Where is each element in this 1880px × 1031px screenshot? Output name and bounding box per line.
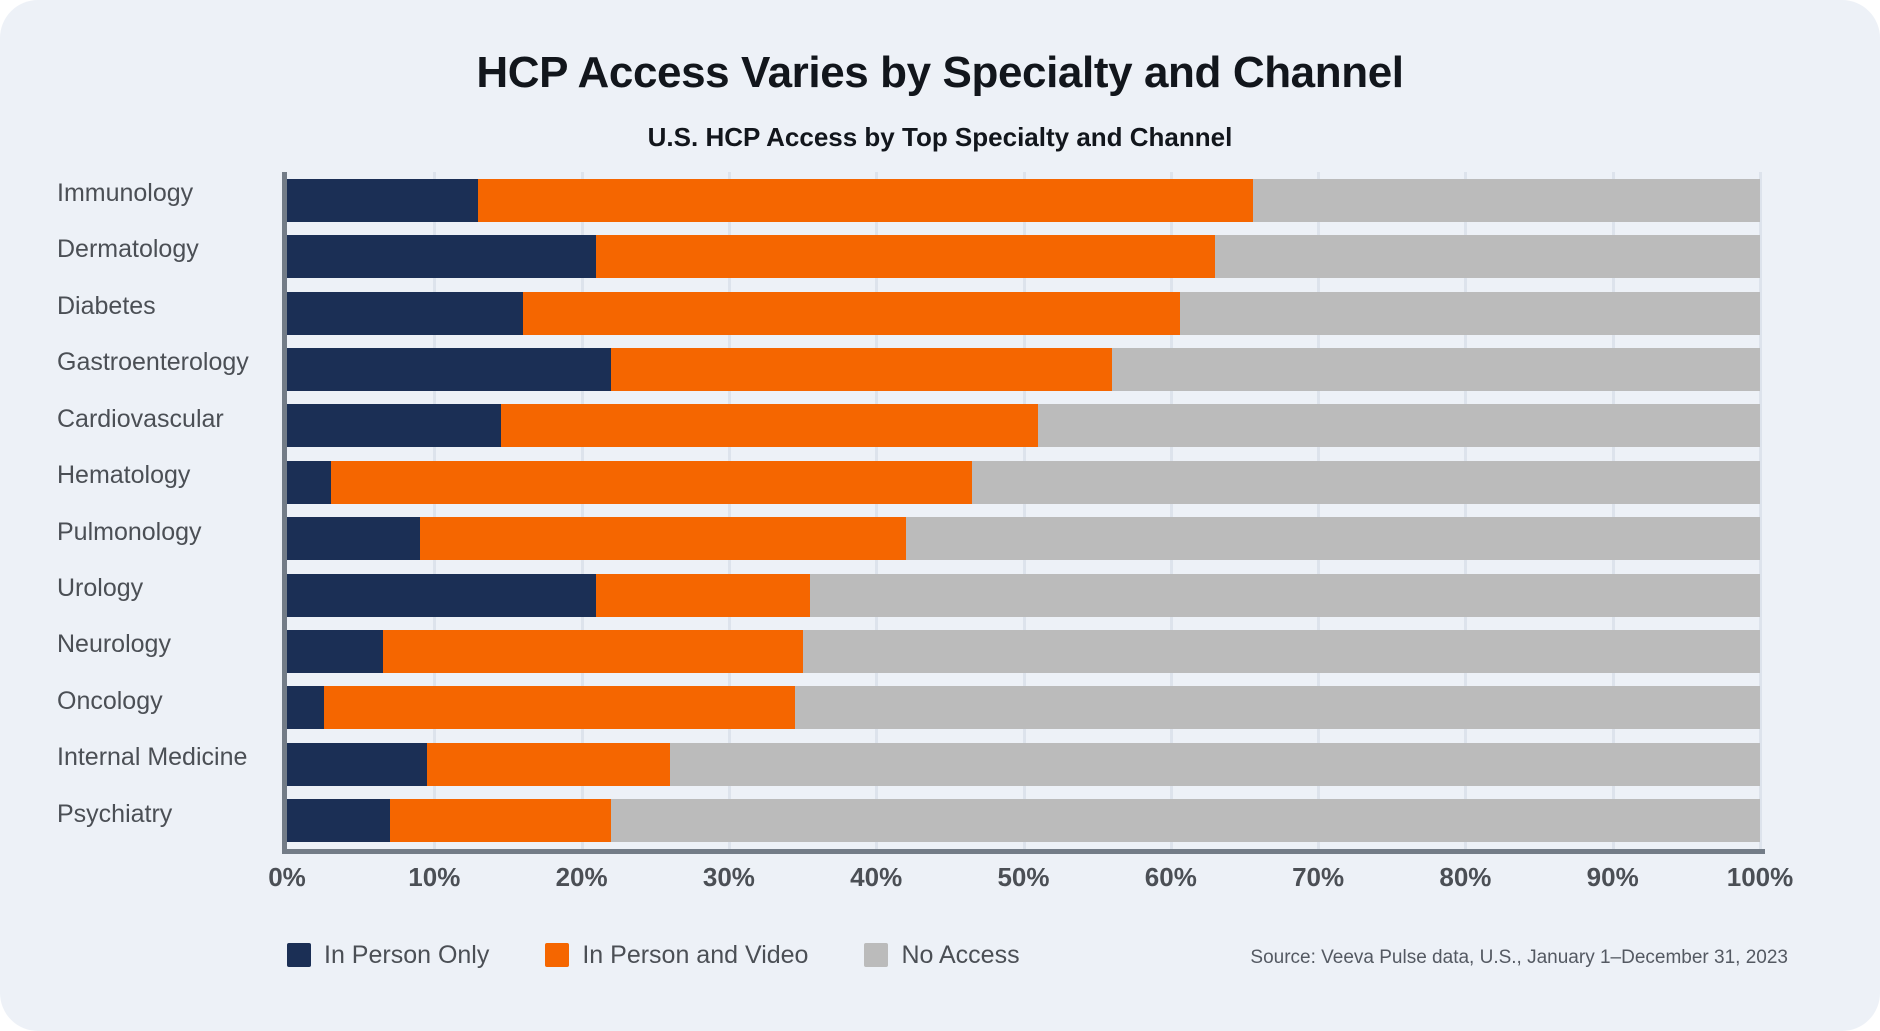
bar-segment[interactable] <box>287 461 331 504</box>
x-axis-tick-label: 60% <box>1145 862 1197 893</box>
legend-item[interactable]: In Person and Video <box>545 941 808 970</box>
bar-segment[interactable] <box>287 348 611 391</box>
bar-segment[interactable] <box>501 404 1039 447</box>
source-note: Source: Veeva Pulse data, U.S., January … <box>1250 947 1788 969</box>
y-axis-label-text: Urology <box>0 574 270 603</box>
y-axis-label-text: Hematology <box>0 461 270 490</box>
bar-segment[interactable] <box>287 517 420 560</box>
legend-label: No Access <box>901 941 1019 970</box>
x-axis-line <box>282 849 1765 854</box>
bar-segment[interactable] <box>795 686 1760 729</box>
x-axis-tick-label: 70% <box>1292 862 1344 893</box>
bar-segment[interactable] <box>1180 292 1760 335</box>
legend-item[interactable]: No Access <box>864 941 1019 970</box>
bar-segment[interactable] <box>287 799 390 842</box>
x-axis-tick-label: 90% <box>1587 862 1639 893</box>
bar-segment[interactable] <box>670 743 1760 786</box>
bar-row[interactable] <box>287 404 1760 447</box>
plot-area <box>287 172 1760 849</box>
chart-legend: In Person OnlyIn Person and VideoNo Acce… <box>287 938 1076 972</box>
bar-row[interactable] <box>287 292 1760 335</box>
y-axis-label: Hematology <box>0 454 270 497</box>
chart-card: HCP Access Varies by Specialty and Chann… <box>0 0 1880 1031</box>
chart-subtitle: U.S. HCP Access by Top Specialty and Cha… <box>0 122 1880 153</box>
y-axis-label-text: Neurology <box>0 630 270 659</box>
bar-row[interactable] <box>287 743 1760 786</box>
y-axis-label-text: Psychiatry <box>0 800 270 829</box>
bar-row[interactable] <box>287 630 1760 673</box>
y-axis-label: Neurology <box>0 623 270 666</box>
x-axis-tick-label: 30% <box>703 862 755 893</box>
y-axis-label: Pulmonology <box>0 511 270 554</box>
bar-segment[interactable] <box>287 404 501 447</box>
legend-swatch-icon <box>545 943 569 967</box>
y-axis-label-text: Pulmonology <box>0 518 270 547</box>
bar-segment[interactable] <box>972 461 1760 504</box>
bar-row[interactable] <box>287 461 1760 504</box>
bar-row[interactable] <box>287 235 1760 278</box>
bar-segment[interactable] <box>810 574 1760 617</box>
bar-row[interactable] <box>287 517 1760 560</box>
bar-segment[interactable] <box>287 179 478 222</box>
legend-swatch-icon <box>287 943 311 967</box>
y-axis-label: Diabetes <box>0 285 270 328</box>
bar-segment[interactable] <box>1215 235 1760 278</box>
bar-segment[interactable] <box>287 574 596 617</box>
y-axis-label: Oncology <box>0 680 270 723</box>
bar-segment[interactable] <box>287 235 596 278</box>
bar-row[interactable] <box>287 179 1760 222</box>
x-axis-tick-label: 50% <box>997 862 1049 893</box>
bar-segment[interactable] <box>611 348 1112 391</box>
x-axis-tick-label: 80% <box>1439 862 1491 893</box>
bar-segment[interactable] <box>331 461 972 504</box>
bar-segment[interactable] <box>420 517 906 560</box>
y-axis-label-text: Oncology <box>0 687 270 716</box>
bar-segment[interactable] <box>523 292 1180 335</box>
bar-row[interactable] <box>287 799 1760 842</box>
y-axis-label: Immunology <box>0 172 270 215</box>
bar-segment[interactable] <box>287 686 324 729</box>
bar-row[interactable] <box>287 574 1760 617</box>
x-axis-ticks: 0%10%20%30%40%50%60%70%80%90%100% <box>287 862 1760 902</box>
bar-segment[interactable] <box>1038 404 1760 447</box>
x-axis-tick-label: 100% <box>1727 862 1794 893</box>
bar-segment[interactable] <box>596 574 810 617</box>
y-axis-label: Gastroenterology <box>0 341 270 384</box>
y-axis-label: Internal Medicine <box>0 736 270 779</box>
bar-rows <box>287 172 1760 849</box>
y-axis-label-text: Dermatology <box>0 235 270 264</box>
bar-segment[interactable] <box>287 292 523 335</box>
bar-segment[interactable] <box>287 630 383 673</box>
y-axis-label: Cardiovascular <box>0 398 270 441</box>
y-axis-label-text: Immunology <box>0 179 270 208</box>
x-axis-tick-label: 40% <box>850 862 902 893</box>
x-axis-tick-label: 20% <box>556 862 608 893</box>
y-axis-label: Urology <box>0 567 270 610</box>
y-axis-label-text: Gastroenterology <box>0 348 270 377</box>
bar-segment[interactable] <box>1112 348 1760 391</box>
y-axis-label: Psychiatry <box>0 793 270 836</box>
bar-segment[interactable] <box>478 179 1253 222</box>
bar-segment[interactable] <box>390 799 611 842</box>
bar-segment[interactable] <box>906 517 1760 560</box>
page-title: HCP Access Varies by Specialty and Chann… <box>0 48 1880 98</box>
bar-segment[interactable] <box>596 235 1215 278</box>
y-axis-label-text: Cardiovascular <box>0 405 270 434</box>
bar-segment[interactable] <box>803 630 1760 673</box>
bar-row[interactable] <box>287 686 1760 729</box>
legend-swatch-icon <box>864 943 888 967</box>
y-axis-label-text: Internal Medicine <box>0 743 270 772</box>
y-axis-label-text: Diabetes <box>0 292 270 321</box>
legend-label: In Person and Video <box>582 941 808 970</box>
bar-segment[interactable] <box>611 799 1760 842</box>
legend-item[interactable]: In Person Only <box>287 941 489 970</box>
y-axis-labels: ImmunologyDermatologyDiabetesGastroenter… <box>0 172 270 849</box>
bar-segment[interactable] <box>383 630 803 673</box>
legend-label: In Person Only <box>324 941 489 970</box>
x-axis-tick-label: 0% <box>268 862 306 893</box>
bar-segment[interactable] <box>1253 179 1760 222</box>
bar-segment[interactable] <box>427 743 670 786</box>
bar-segment[interactable] <box>287 743 427 786</box>
bar-segment[interactable] <box>324 686 795 729</box>
bar-row[interactable] <box>287 348 1760 391</box>
y-axis-label: Dermatology <box>0 228 270 271</box>
x-axis-tick-label: 10% <box>408 862 460 893</box>
